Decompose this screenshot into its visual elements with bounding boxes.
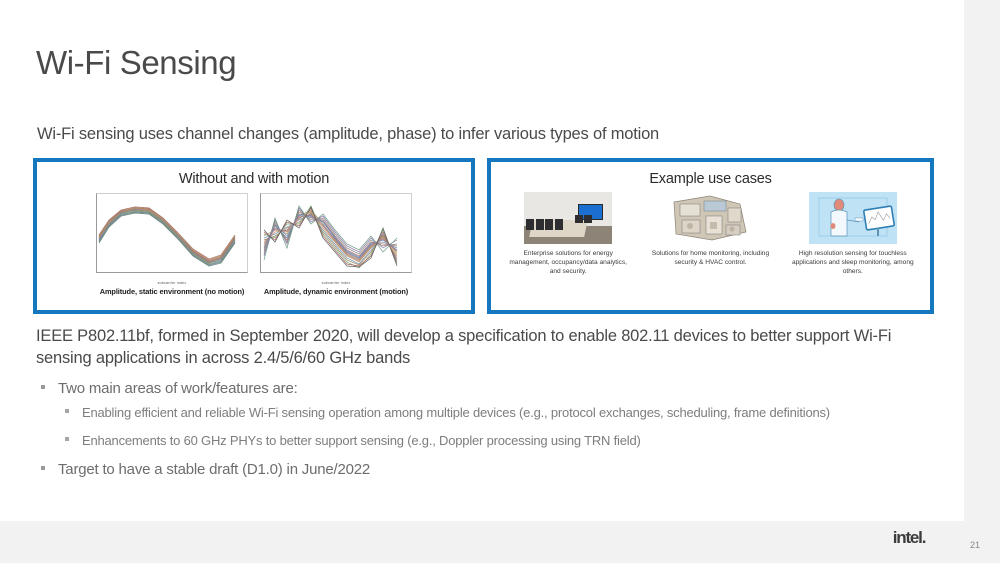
bullet-subitem-60ghz-phy: Enhancements to 60 GHz PHYs to better su… — [36, 431, 916, 450]
touchless-sensing-illustration-icon — [809, 192, 897, 244]
use-case-touchless-sensing: High resolution sensing for touchless ap… — [786, 192, 919, 276]
plot-dynamic-environment: 300 250 200 150 100 50 0 0 10 20 30 40 5… — [257, 193, 415, 296]
panel-right-title: Example use cases — [491, 171, 930, 187]
slide-subtitle: Wi-Fi sensing uses channel changes (ampl… — [37, 125, 659, 144]
plot-static-canvas: 250 200 150 100 50 0 0 10 20 30 40 50 — [96, 193, 248, 273]
bullet-item-stable-draft: Target to have a stable draft (D1.0) in … — [36, 459, 916, 482]
bullet-list: Two main areas of work/features are: Ena… — [36, 378, 916, 483]
plot-static-axis-label: subcarrier index — [93, 281, 251, 285]
touchless-svg — [809, 192, 897, 244]
plot-static-caption: Amplitude, static environment (no motion… — [93, 287, 251, 296]
floorplan-3d-scan-icon — [666, 192, 754, 244]
bullet-subitem-enabling-sensing: Enabling efficient and reliable Wi-Fi se… — [36, 403, 916, 422]
panel-example-use-cases: Example use cases Enterprise solutions f… — [487, 158, 934, 314]
bullet-subitem-enabling-sensing-label: Enabling efficient and reliable Wi-Fi se… — [82, 405, 830, 420]
conference-room-photo-icon — [524, 192, 612, 244]
use-case-enterprise-caption: Enterprise solutions for energy manageme… — [502, 249, 635, 276]
body-paragraph: IEEE P802.11bf, formed in September 2020… — [36, 325, 906, 370]
bullet-item-work-features: Two main areas of work/features are: — [36, 378, 916, 401]
plot-group: 250 200 150 100 50 0 0 10 20 30 40 50 su… — [37, 193, 471, 296]
slide-right-margin — [964, 0, 1000, 563]
page-number: 21 — [970, 540, 980, 550]
dynamic-curves-svg — [261, 194, 411, 272]
plot-dynamic-caption: Amplitude, dynamic environment (motion) — [257, 287, 415, 296]
intel-logo-dot: . — [922, 528, 926, 547]
plot-static-environment: 250 200 150 100 50 0 0 10 20 30 40 50 su… — [93, 193, 251, 296]
bullet-item-work-features-label: Two main areas of work/features are: — [58, 380, 298, 397]
bullet-item-stable-draft-label: Target to have a stable draft (D1.0) in … — [58, 461, 370, 478]
floorplan-svg — [666, 192, 754, 244]
use-case-touchless-sensing-caption: High resolution sensing for touchless ap… — [786, 249, 919, 276]
slide-bottom-margin — [0, 521, 964, 563]
bullet-subitem-60ghz-phy-label: Enhancements to 60 GHz PHYs to better su… — [82, 433, 641, 448]
intel-logo-text: intel — [893, 528, 922, 547]
panel-without-and-with-motion: Without and with motion — [33, 158, 475, 314]
bullet-square-icon — [41, 385, 45, 389]
static-curves-svg — [97, 194, 247, 272]
slide-canvas: Wi-Fi Sensing Wi-Fi sensing uses channel… — [0, 0, 964, 521]
panel-left-title: Without and with motion — [37, 171, 471, 187]
use-case-home-monitoring-caption: Solutions for home monitoring, including… — [644, 249, 777, 267]
use-case-home-monitoring: Solutions for home monitoring, including… — [644, 192, 777, 276]
bullet-square-icon — [65, 409, 69, 413]
plot-dynamic-canvas: 300 250 200 150 100 50 0 0 10 20 30 40 5… — [260, 193, 412, 273]
bullet-square-icon — [65, 437, 69, 441]
use-case-enterprise: Enterprise solutions for energy manageme… — [502, 192, 635, 276]
page-title: Wi-Fi Sensing — [36, 44, 236, 82]
bullet-square-icon — [41, 466, 45, 470]
plot-dynamic-axis-label: subcarrier index — [257, 281, 415, 285]
intel-logo: intel. — [893, 528, 925, 548]
use-case-group: Enterprise solutions for energy manageme… — [491, 192, 930, 276]
